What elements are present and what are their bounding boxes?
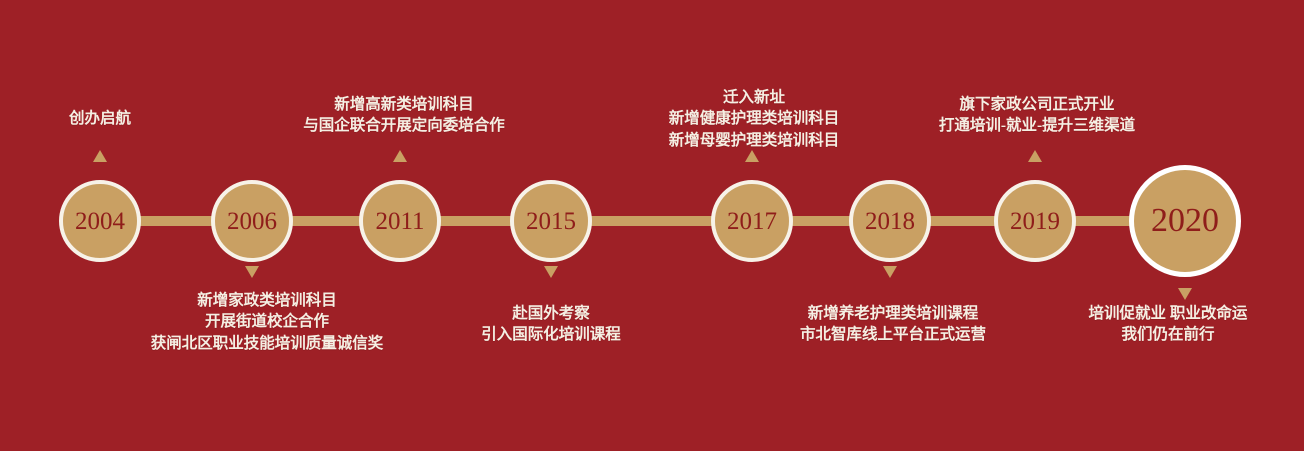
timeline-node-2019[interactable]: 2019: [994, 180, 1076, 262]
caption-line: 开展街道校企合作: [151, 311, 384, 332]
triangle-up-icon: [393, 150, 407, 162]
triangle-up-icon: [1028, 150, 1042, 162]
caption-line: 我们仍在前行: [1089, 324, 1248, 345]
caption-line: 打通培训-就业-提升三维渠道: [939, 115, 1135, 136]
caption-line: 新增养老护理类培训课程: [800, 303, 986, 324]
timeline-caption-2019: 旗下家政公司正式开业打通培训-就业-提升三维渠道: [939, 94, 1135, 137]
caption-line: 新增母婴护理类培训科目: [669, 130, 840, 151]
timeline-node-2017[interactable]: 2017: [711, 180, 793, 262]
node-year-label: 2017: [727, 209, 777, 234]
caption-line: 新增高新类培训科目: [303, 94, 505, 115]
timeline-caption-2015: 赴国外考察引入国际化培训课程: [481, 303, 621, 346]
caption-line: 新增健康护理类培训科目: [669, 108, 840, 129]
caption-line: 赴国外考察: [481, 303, 621, 324]
caption-line: 培训促就业 职业改命运: [1089, 303, 1248, 324]
triangle-up-icon: [745, 150, 759, 162]
timeline-caption-2006: 新增家政类培训科目开展街道校企合作获闸北区职业技能培训质量诚信奖: [151, 290, 384, 354]
timeline-caption-2020: 培训促就业 职业改命运我们仍在前行: [1089, 303, 1248, 346]
triangle-down-icon: [883, 266, 897, 278]
caption-line: 引入国际化培训课程: [481, 324, 621, 345]
triangle-down-icon: [544, 266, 558, 278]
caption-line: 旗下家政公司正式开业: [939, 94, 1135, 115]
caption-line: 与国企联合开展定向委培合作: [303, 115, 505, 136]
caption-line: 迁入新址: [669, 87, 840, 108]
timeline-node-2020[interactable]: 2020: [1129, 165, 1241, 277]
node-year-label: 2018: [865, 209, 915, 234]
timeline-node-2015[interactable]: 2015: [510, 180, 592, 262]
node-year-label: 2020: [1151, 204, 1219, 238]
timeline-caption-2004: 创办启航: [69, 108, 131, 129]
triangle-down-icon: [1178, 288, 1192, 300]
timeline-caption-2011: 新增高新类培训科目与国企联合开展定向委培合作: [303, 94, 505, 137]
timeline-infographic: 20042006201120152017201820192020 创办启航新增家…: [0, 0, 1304, 451]
node-year-label: 2011: [375, 209, 424, 234]
timeline-node-2004[interactable]: 2004: [59, 180, 141, 262]
caption-line: 获闸北区职业技能培训质量诚信奖: [151, 333, 384, 354]
timeline-caption-2018: 新增养老护理类培训课程市北智库线上平台正式运营: [800, 303, 986, 346]
timeline-node-2006[interactable]: 2006: [211, 180, 293, 262]
node-year-label: 2015: [526, 209, 576, 234]
node-year-label: 2004: [75, 209, 125, 234]
timeline-node-2011[interactable]: 2011: [359, 180, 441, 262]
caption-line: 新增家政类培训科目: [151, 290, 384, 311]
timeline-caption-2017: 迁入新址新增健康护理类培训科目新增母婴护理类培训科目: [669, 87, 840, 151]
timeline-node-2018[interactable]: 2018: [849, 180, 931, 262]
triangle-up-icon: [93, 150, 107, 162]
node-year-label: 2019: [1010, 209, 1060, 234]
triangle-down-icon: [245, 266, 259, 278]
node-year-label: 2006: [227, 209, 277, 234]
caption-line: 创办启航: [69, 108, 131, 129]
caption-line: 市北智库线上平台正式运营: [800, 324, 986, 345]
